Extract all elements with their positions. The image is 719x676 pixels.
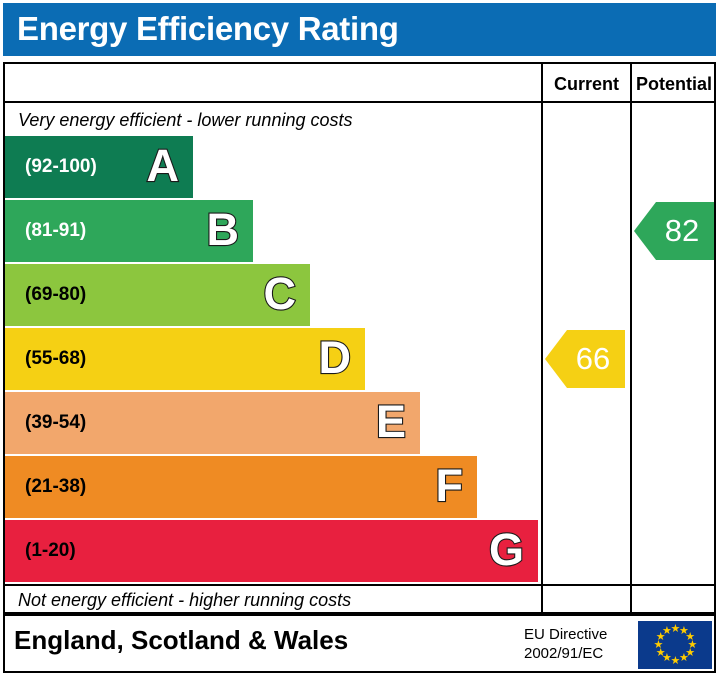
- energy-efficiency-rating-chart: Energy Efficiency Rating Current Potenti…: [0, 0, 719, 676]
- rating-band-e: (39-54)E: [5, 392, 420, 454]
- current-rating-value: 66: [567, 330, 619, 388]
- header-rule: [3, 101, 716, 103]
- potential-rating-value: 82: [656, 202, 708, 260]
- caption-rule: [3, 584, 716, 586]
- caption-bottom: Not energy efficient - higher running co…: [18, 590, 351, 611]
- title-bar: Energy Efficiency Rating: [3, 3, 716, 56]
- rating-band-b: (81-91)B: [5, 200, 253, 262]
- band-letter-g: G: [489, 520, 524, 582]
- band-range-b: (81-91): [25, 200, 86, 262]
- band-letter-b: B: [207, 200, 240, 262]
- band-range-d: (55-68): [25, 328, 86, 390]
- band-range-c: (69-80): [25, 264, 86, 326]
- rating-band-d: (55-68)D: [5, 328, 365, 390]
- caption-top: Very energy efficient - lower running co…: [18, 110, 353, 131]
- band-letter-d: D: [319, 328, 352, 390]
- eu-directive-line1: EU Directive: [524, 625, 630, 644]
- band-range-a: (92-100): [25, 136, 97, 198]
- eu-directive-line2: 2002/91/EC: [524, 644, 630, 663]
- rating-band-g: (1-20)G: [5, 520, 538, 582]
- rating-band-f: (21-38)F: [5, 456, 477, 518]
- eu-flag-star: ★: [679, 654, 688, 663]
- band-letter-a: A: [147, 136, 180, 198]
- band-letter-c: C: [264, 264, 297, 326]
- column-separator-potential: [630, 62, 632, 614]
- rating-band-c: (69-80)C: [5, 264, 310, 326]
- eu-directive-text: EU Directive 2002/91/EC: [524, 625, 630, 663]
- eu-flag-star: ★: [662, 627, 671, 636]
- band-letter-f: F: [436, 456, 464, 518]
- band-letter-e: E: [376, 392, 406, 454]
- rating-band-a: (92-100)A: [5, 136, 193, 198]
- eu-flag-icon: ★★★★★★★★★★★★: [638, 621, 712, 669]
- band-range-f: (21-38): [25, 456, 86, 518]
- footer-region-label: England, Scotland & Wales: [14, 625, 348, 656]
- band-range-e: (39-54): [25, 392, 86, 454]
- column-header-potential: Potential: [632, 72, 716, 96]
- page-title: Energy Efficiency Rating: [17, 10, 399, 48]
- band-range-g: (1-20): [25, 520, 76, 582]
- column-header-current: Current: [543, 72, 630, 96]
- column-separator-current: [541, 62, 543, 614]
